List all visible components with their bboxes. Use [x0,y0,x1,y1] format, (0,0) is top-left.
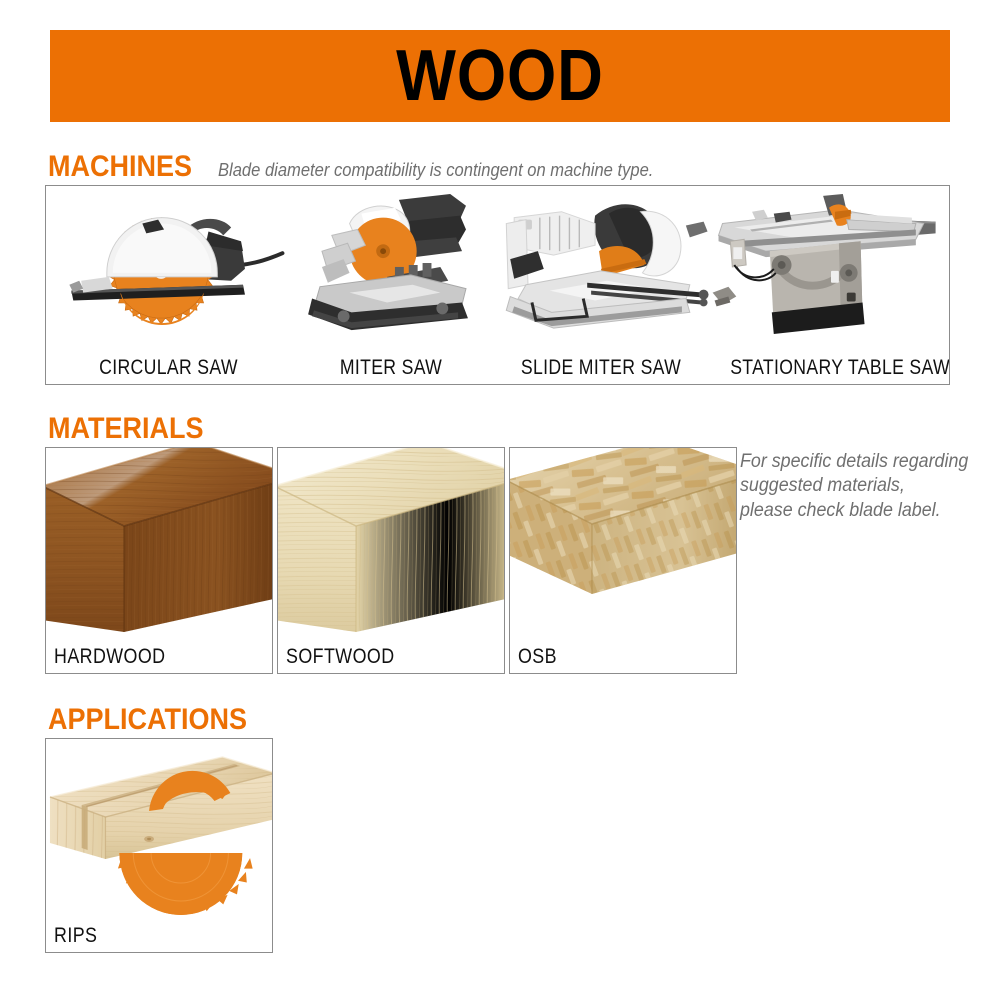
material-cell-softwood[interactable]: SOFTWOOD [277,447,505,674]
application-label-rips: RIPS [54,925,97,946]
wood-banner: WOOD [50,30,950,122]
machines-section-header: MACHINES Blade diameter compatibility is… [48,152,691,182]
applications-title: APPLICATIONS [48,705,247,735]
applications-section-header: APPLICATIONS [48,705,269,735]
machine-cell-miter-saw[interactable]: MITER SAW [291,186,491,385]
materials-note-line-3: please check blade label. [740,499,975,523]
machines-note: Blade diameter compatibility is continge… [218,161,653,179]
material-cell-osb[interactable]: OSB [509,447,737,674]
materials-section-header: MATERIALS [48,414,221,444]
hardwood-block-icon [46,448,273,633]
rip-cut-icon [46,739,272,919]
application-cell-rips[interactable]: RIPS [45,738,273,953]
material-label-hardwood: HARDWOOD [54,646,165,667]
machine-cell-circular-saw[interactable]: CIRCULAR SAW [46,186,291,385]
machine-label-circular-saw: CIRCULAR SAW [66,357,272,378]
machine-cell-table-saw[interactable]: STATIONARY TABLE SAW [711,186,950,385]
materials-note-line-2: suggested materials, [740,474,975,498]
materials-note-line-1: For specific details regarding [740,450,975,474]
material-cell-hardwood[interactable]: HARDWOOD [45,447,273,674]
blade-lower [117,853,253,915]
machines-title: MACHINES [48,152,192,182]
machine-label-table-saw: STATIONARY TABLE SAW [730,357,932,378]
machine-label-miter-saw: MITER SAW [307,357,475,378]
softwood-block-icon [278,448,505,633]
circular-saw-icon [46,190,291,338]
table-saw-icon [711,190,950,338]
machine-label-slide-miter-saw: SLIDE MITER SAW [509,357,694,378]
slide-miter-saw-icon [491,190,711,338]
material-label-softwood: SOFTWOOD [286,646,395,667]
machine-cell-slide-miter-saw[interactable]: SLIDE MITER SAW [491,186,711,385]
material-label-osb: OSB [518,646,557,667]
materials-note: For specific details regarding suggested… [740,450,975,523]
osb-block-icon [510,448,737,633]
materials-title: MATERIALS [48,414,203,444]
machines-panel: CIRCULAR SAW [45,185,950,385]
page-title: WOOD [396,40,604,112]
miter-saw-icon [291,190,491,338]
